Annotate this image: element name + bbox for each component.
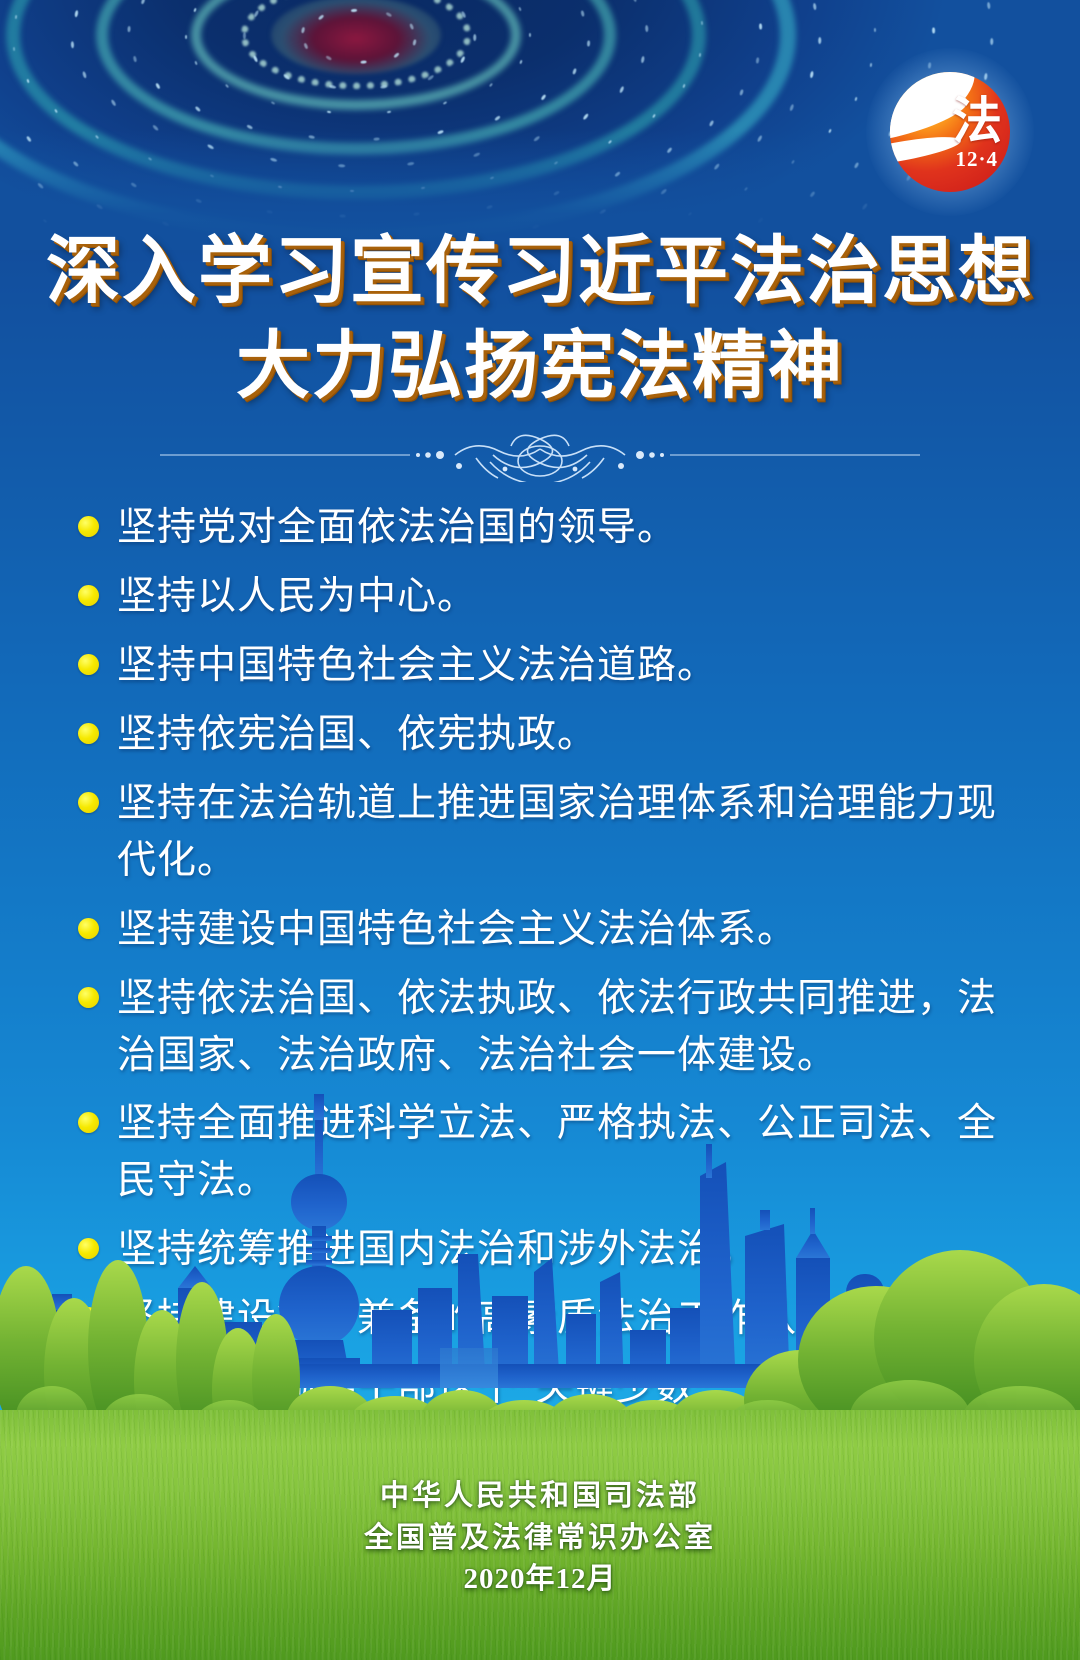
- bullet-dot-icon: [78, 654, 99, 675]
- title-line-1: 深入学习宣传习近平法治思想: [0, 228, 1080, 315]
- list-item-label: 坚持建设中国特色社会主义法治体系。: [117, 902, 797, 959]
- list-item: 坚持在法治轨道上推进国家治理体系和治理能力现代化。: [78, 776, 1020, 890]
- logo-date-label: 12·4: [955, 147, 998, 172]
- list-item: 坚持建设中国特色社会主义法治体系。: [78, 902, 1020, 959]
- list-item: 坚持中国特色社会主义法治道路。: [78, 638, 1020, 695]
- bullet-dot-icon: [78, 792, 99, 813]
- list-item-label: 坚持依宪治国、依宪执政。: [117, 707, 597, 764]
- poster-canvas: 法 12·4 深入学习宣传习近平法治思想 大力弘扬宪法精神: [0, 0, 1080, 1660]
- logo-fa-character: 法: [952, 96, 1002, 146]
- bullet-dot-icon: [78, 723, 99, 744]
- bullet-dot-icon: [78, 918, 99, 939]
- footer-ministry: 中华人民共和国司法部: [0, 1476, 1080, 1517]
- bullet-dot-icon: [78, 987, 99, 1008]
- list-item: 坚持党对全面依法治国的领导。: [78, 500, 1020, 557]
- list-item-label: 坚持在法治轨道上推进国家治理体系和治理能力现代化。: [117, 776, 1020, 890]
- logo-circle: 法 12·4: [890, 72, 1010, 192]
- poster-title: 深入学习宣传习近平法治思想 大力弘扬宪法精神: [0, 228, 1080, 411]
- footer-date: 2020年12月: [0, 1559, 1080, 1600]
- bullet-dot-icon: [78, 516, 99, 537]
- poster-footer: 中华人民共和国司法部 全国普及法律常识办公室 2020年12月: [0, 1476, 1080, 1600]
- ornamental-divider: [0, 428, 1080, 482]
- list-item-label: 坚持以人民为中心。: [117, 569, 477, 626]
- list-item: 坚持依宪治国、依宪执政。: [78, 707, 1020, 764]
- list-item: 坚持以人民为中心。: [78, 569, 1020, 626]
- footer-office: 全国普及法律常识办公室: [0, 1518, 1080, 1559]
- list-item-label: 坚持党对全面依法治国的领导。: [117, 500, 677, 557]
- title-line-2: 大力弘扬宪法精神: [0, 323, 1080, 410]
- bullet-dot-icon: [78, 585, 99, 606]
- list-item-label: 坚持中国特色社会主义法治道路。: [117, 638, 717, 695]
- constitution-day-logo: 法 12·4: [890, 72, 1010, 192]
- divider-svg: [160, 428, 920, 482]
